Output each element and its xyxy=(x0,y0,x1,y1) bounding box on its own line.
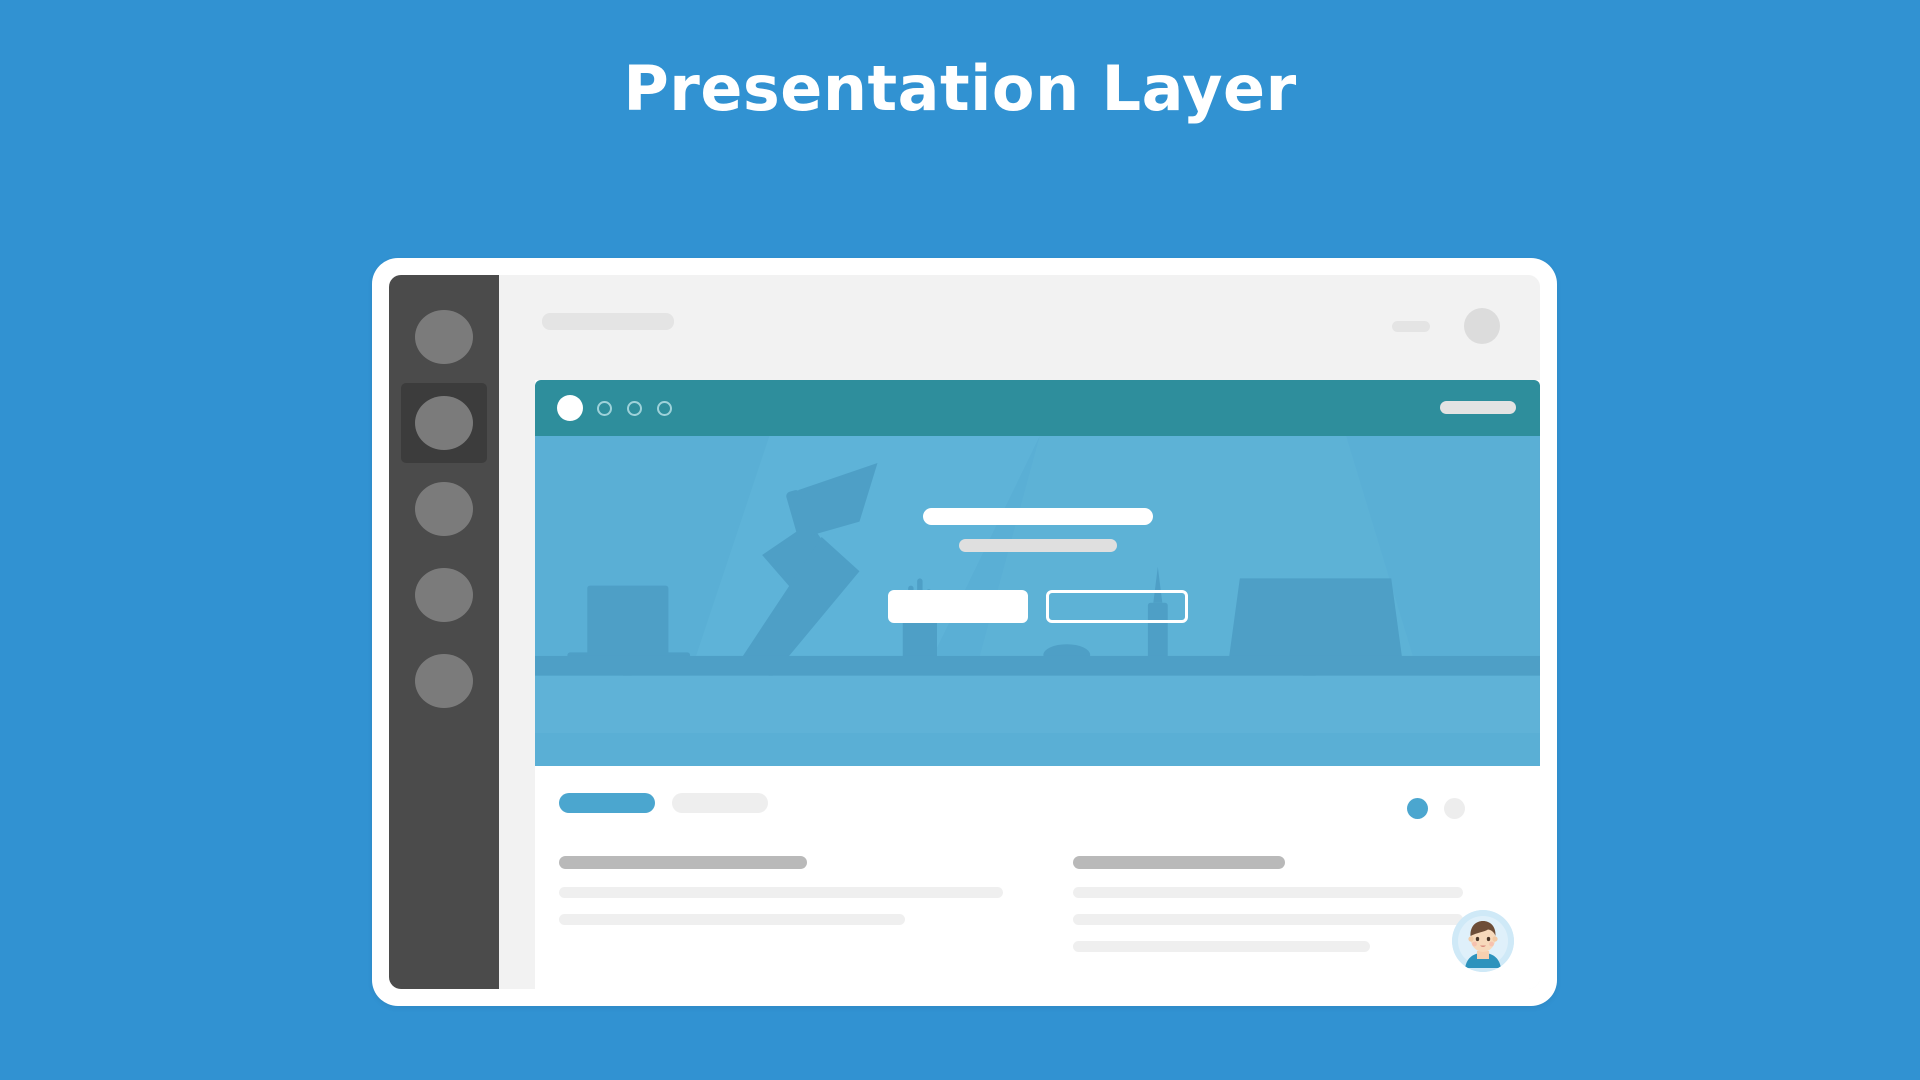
pager-dot-inactive[interactable] xyxy=(1444,798,1465,819)
tablet-screen xyxy=(389,275,1540,989)
circle-nav-icon xyxy=(415,568,473,622)
column-text-line xyxy=(1073,887,1463,898)
tablet-device-frame xyxy=(372,258,1557,1006)
content-column-right xyxy=(1073,856,1517,968)
browser-window-card xyxy=(535,380,1540,989)
column-text-line xyxy=(559,914,905,925)
column-text-line xyxy=(1073,914,1463,925)
content-columns xyxy=(535,832,1540,968)
app-sidebar xyxy=(389,275,499,989)
browser-address-bar[interactable] xyxy=(1440,401,1516,414)
hero-copy-block xyxy=(888,508,1188,623)
column-text-line xyxy=(559,887,1003,898)
column-heading-placeholder xyxy=(1073,856,1286,869)
hero-subheadline-placeholder xyxy=(959,539,1117,552)
sidebar-item-5[interactable] xyxy=(389,637,499,725)
content-column-left xyxy=(559,856,1003,968)
window-dot-outline-icon[interactable] xyxy=(597,401,612,416)
hero-primary-button[interactable] xyxy=(888,590,1029,623)
hero-section xyxy=(535,436,1540,766)
column-text-line xyxy=(1073,941,1370,952)
window-dot-filled-icon[interactable] xyxy=(557,395,583,421)
circle-nav-icon xyxy=(415,482,473,536)
avatar-artwork xyxy=(1452,910,1514,972)
sidebar-item-3[interactable] xyxy=(389,465,499,553)
content-section xyxy=(535,766,1540,989)
sidebar-item-4[interactable] xyxy=(389,551,499,639)
circle-nav-icon xyxy=(415,310,473,364)
pager-dot-active[interactable] xyxy=(1407,798,1428,819)
window-dot-outline-icon[interactable] xyxy=(627,401,642,416)
hero-headline-placeholder xyxy=(923,508,1153,525)
hero-secondary-button[interactable] xyxy=(1046,590,1187,623)
page-title: Presentation Layer xyxy=(0,52,1920,125)
hero-button-group xyxy=(888,590,1188,623)
app-logo-placeholder xyxy=(542,313,674,330)
user-avatar-icon[interactable] xyxy=(1452,910,1514,972)
sidebar-item-2[interactable] xyxy=(389,379,499,467)
sidebar-item-1[interactable] xyxy=(389,293,499,381)
window-dot-outline-icon[interactable] xyxy=(657,401,672,416)
pagination-dots xyxy=(1407,798,1465,819)
app-topbar xyxy=(499,275,1540,375)
circle-nav-icon xyxy=(415,396,473,450)
topbar-menu-placeholder[interactable] xyxy=(1392,321,1430,332)
column-heading-placeholder xyxy=(559,856,807,869)
tab-active[interactable] xyxy=(559,793,655,813)
topbar-avatar[interactable] xyxy=(1464,308,1500,344)
tab-inactive[interactable] xyxy=(672,793,768,813)
browser-header-bar xyxy=(535,380,1540,436)
circle-nav-icon xyxy=(415,654,473,708)
app-content-area xyxy=(499,275,1540,989)
tabs-row xyxy=(535,792,1540,832)
